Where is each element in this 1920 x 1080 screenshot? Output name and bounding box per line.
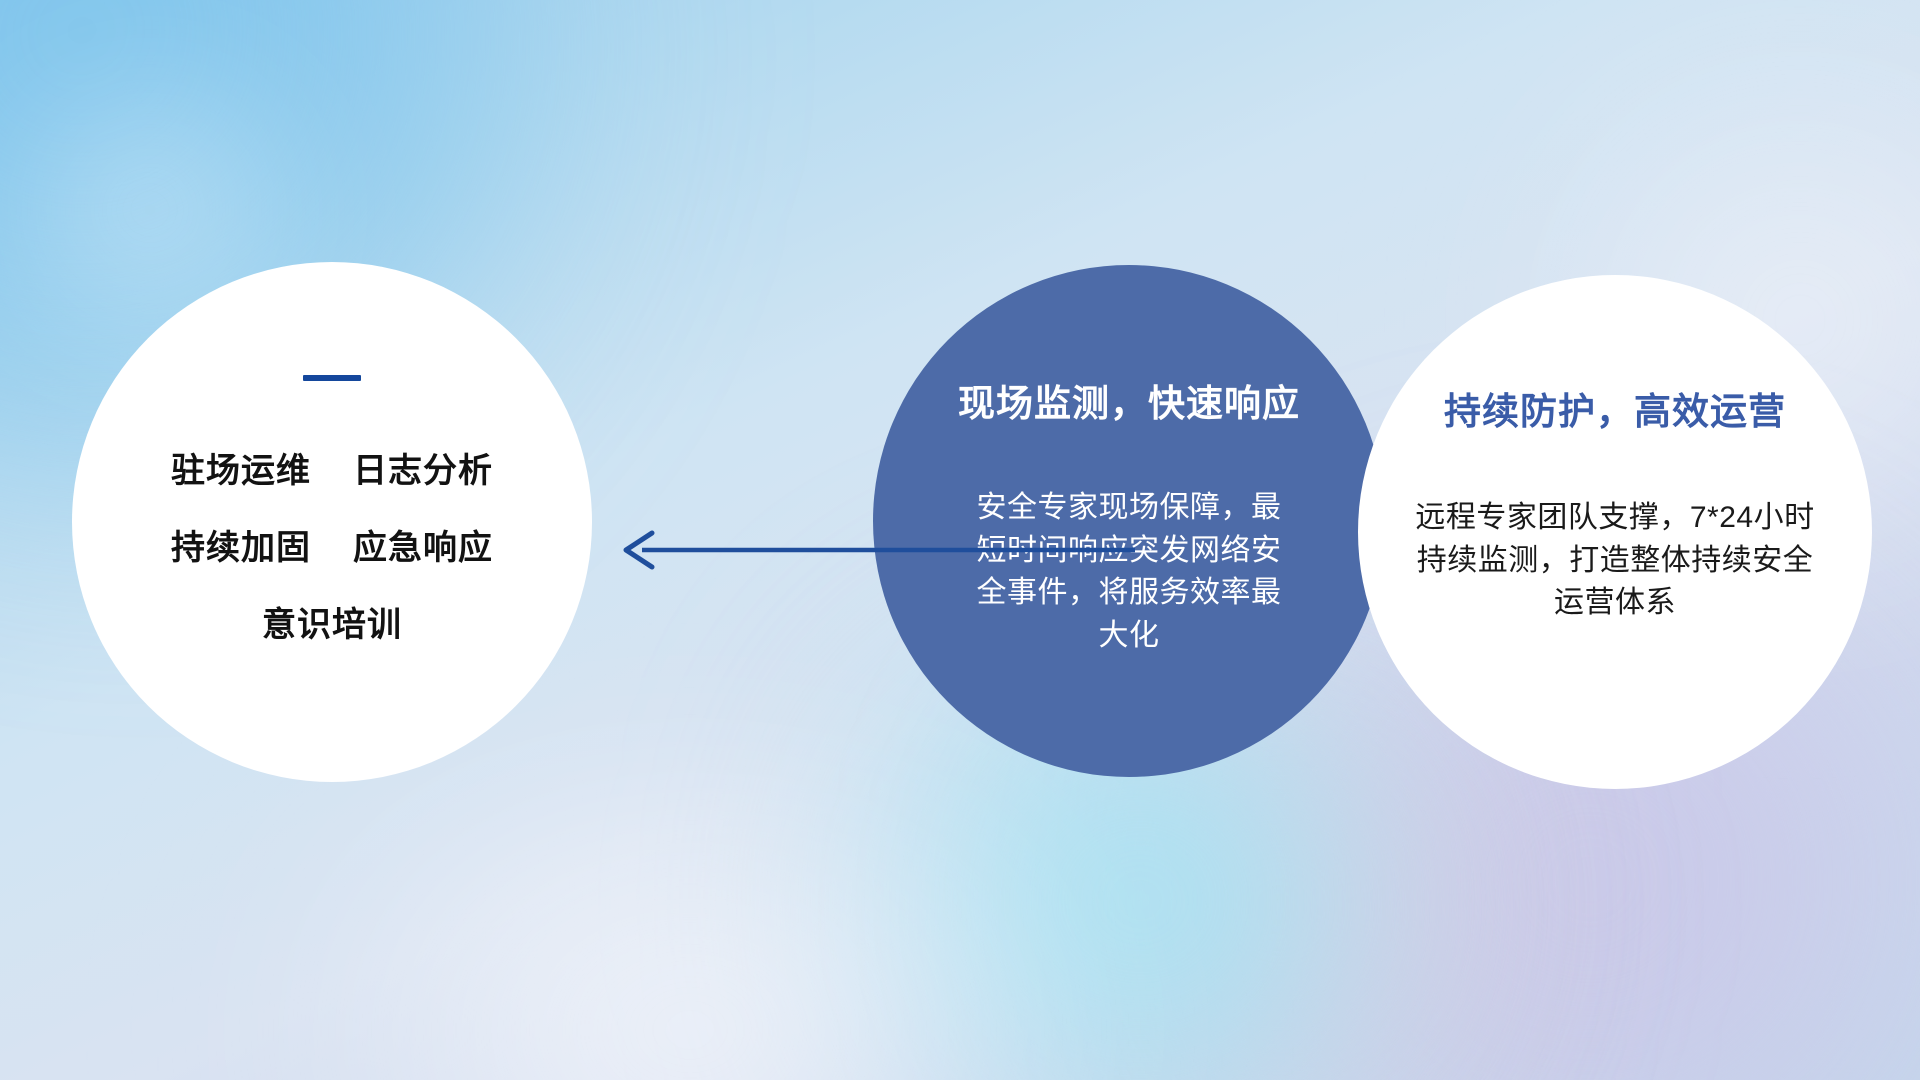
circle-continuous-protection-body: 远程专家团队支撑，7*24小时持续监测，打造整体持续安全运营体系 <box>1415 497 1815 625</box>
circle-service-capabilities[interactable]: 驻场运维 日志分析 持续加固 应急响应 意识培训 <box>72 262 592 782</box>
capability-tag: 驻场运维 <box>171 443 311 492</box>
slide-canvas: 现场监测，快速响应 安全专家现场保障，最短时间响应突发网络安全事件，将服务效率最… <box>0 0 1920 1080</box>
accent-dash-divider <box>303 375 361 381</box>
capability-tag: 意识培训 <box>262 597 402 646</box>
circle-service-capabilities-content: 驻场运维 日志分析 持续加固 应急响应 意识培训 <box>117 375 547 674</box>
circle-continuous-protection-title: 持续防护，高效运营 <box>1444 381 1786 435</box>
capability-tag: 日志分析 <box>353 443 493 492</box>
capability-tag: 持续加固 <box>171 520 311 569</box>
flow-arrow-icon <box>600 515 1140 585</box>
capability-tag: 应急响应 <box>353 520 493 569</box>
circle-onsite-monitoring-title: 现场监测，快速响应 <box>958 373 1300 427</box>
capability-row-1: 驻场运维 日志分析 <box>117 443 547 492</box>
circle-continuous-protection[interactable]: 持续防护，高效运营 远程专家团队支撑，7*24小时持续监测，打造整体持续安全运营… <box>1358 275 1872 789</box>
capability-row-3: 意识培训 <box>117 597 547 646</box>
capability-row-2: 持续加固 应急响应 <box>117 520 547 569</box>
